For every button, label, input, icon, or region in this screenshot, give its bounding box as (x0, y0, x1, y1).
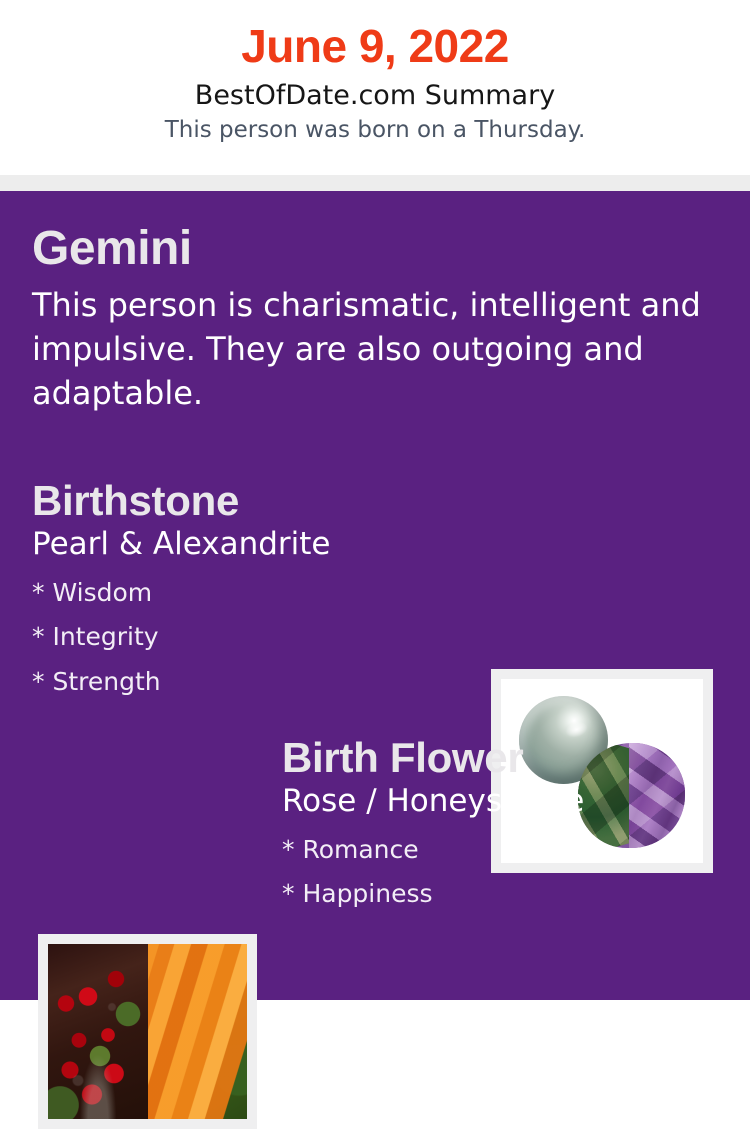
birthstone-subtitle: Pearl & Alexandrite (32, 524, 472, 563)
content-panel: Gemini This person is charismatic, intel… (0, 191, 750, 1000)
date-summary-card: June 9, 2022 BestOfDate.com Summary This… (0, 0, 750, 1000)
flower-split-photo (48, 944, 247, 1119)
birth-flower-image-frame (38, 934, 257, 1129)
birth-flower-subtitle: Rose / Honeysuckle (282, 781, 722, 820)
list-item: * Integrity (32, 615, 472, 660)
zodiac-name: Gemini (32, 224, 718, 274)
list-item: * Romance (282, 828, 722, 873)
born-weekday-text: This person was born on a Thursday. (0, 111, 750, 143)
birthstone-trait-list: * Wisdom * Integrity * Strength (32, 563, 472, 705)
birthstone-heading: Birthstone (32, 479, 472, 524)
birth-flower-section: Birth Flower Rose / Honeysuckle * Romanc… (282, 736, 722, 917)
birth-flower-trait-list: * Romance * Happiness (282, 820, 722, 917)
zodiac-description: This person is charismatic, intelligent … (32, 274, 718, 415)
list-item: * Happiness (282, 872, 722, 917)
red-roses-photo-half (48, 944, 148, 1119)
header-divider (0, 175, 750, 191)
list-item: * Strength (32, 660, 472, 705)
zodiac-section: Gemini This person is charismatic, intel… (32, 224, 718, 416)
list-item: * Wisdom (32, 571, 472, 616)
page-title: June 9, 2022 (0, 0, 750, 72)
birth-flower-heading: Birth Flower (282, 736, 722, 781)
site-summary-label: BestOfDate.com Summary (0, 72, 750, 111)
honeysuckle-photo-half (148, 944, 248, 1119)
birthstone-section: Birthstone Pearl & Alexandrite * Wisdom … (32, 479, 472, 704)
card-header: June 9, 2022 BestOfDate.com Summary This… (0, 0, 750, 175)
rose-and-honeysuckle-photo (48, 944, 247, 1119)
